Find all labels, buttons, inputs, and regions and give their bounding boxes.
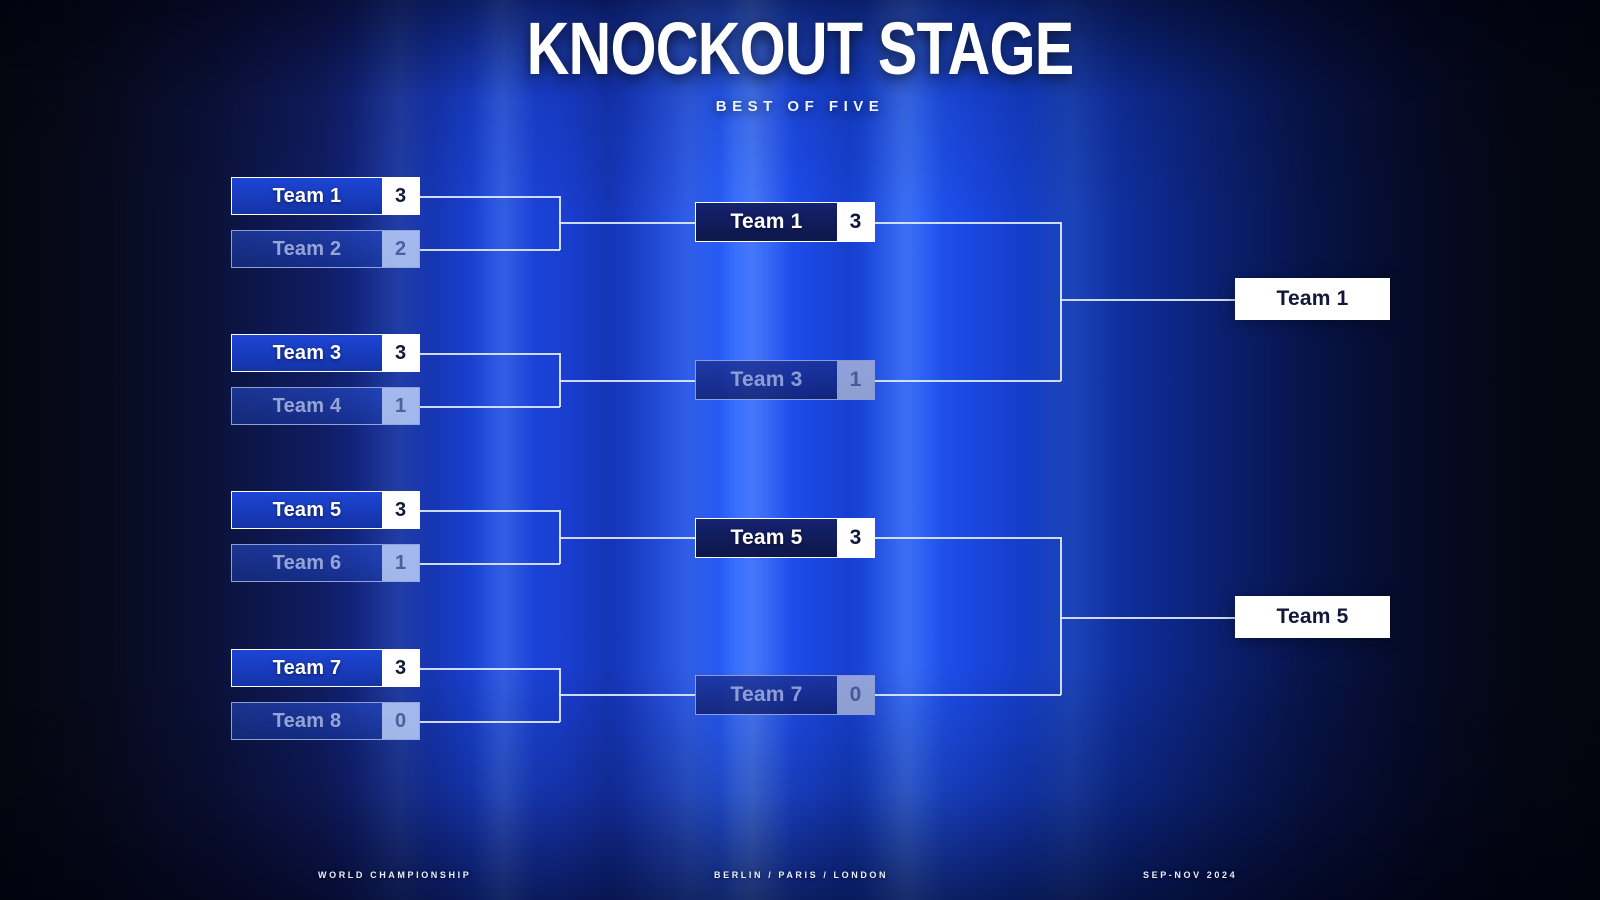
team-name: Team 7	[232, 650, 382, 686]
match-sf-2-top[interactable]: Team 5 3	[695, 518, 875, 558]
page-title: KNOCKOUT STAGE	[160, 14, 1440, 84]
bracket-row[interactable]: Team 7 3	[231, 649, 420, 687]
team-score: 3	[837, 519, 874, 557]
match-sf-2-bottom[interactable]: Team 7 0	[695, 675, 875, 715]
team-name: Team 5	[1236, 597, 1389, 637]
bracket-row[interactable]: Team 3 3	[231, 334, 420, 372]
team-name: Team 3	[232, 335, 382, 371]
team-score: 1	[382, 388, 419, 424]
connector-sf2-bottom	[875, 694, 1061, 696]
knockout-stage-bracket-screen: KNOCKOUT STAGE BEST OF FIVE	[0, 0, 1600, 900]
bracket: Team 1 3 Team 2 2 Team 3 3 Team 4 1 Team…	[0, 0, 1600, 900]
team-score: 2	[382, 231, 419, 267]
connector-sf2-join	[1060, 537, 1062, 695]
bracket-row[interactable]: Team 1 3	[231, 177, 420, 215]
match-qf-4[interactable]: Team 7 3 Team 8 0	[231, 649, 420, 740]
team-score: 1	[382, 545, 419, 581]
page-subtitle: BEST OF FIVE	[0, 98, 1600, 115]
connector-sf1-join	[1060, 222, 1062, 381]
footer-world-championship: WORLD CHAMPIONSHIP	[318, 870, 471, 880]
bracket-row[interactable]: Team 2 2	[231, 230, 420, 268]
connector-qf1-out	[559, 222, 695, 224]
header: KNOCKOUT STAGE BEST OF FIVE	[0, 0, 1600, 115]
connector-qf1-top	[420, 196, 560, 198]
team-score: 3	[382, 492, 419, 528]
connector-sf1-out	[1060, 299, 1235, 301]
connector-qf2-top	[420, 353, 560, 355]
connector-qf3-out	[559, 537, 695, 539]
team-name: Team 7	[696, 676, 837, 714]
team-name: Team 5	[232, 492, 382, 528]
team-score: 3	[382, 178, 419, 214]
connector-qf4-bottom	[420, 721, 560, 723]
bracket-row[interactable]: Team 8 0	[231, 702, 420, 740]
team-name: Team 2	[232, 231, 382, 267]
team-name: Team 3	[696, 361, 837, 399]
connector-sf1-bottom	[875, 380, 1061, 382]
bracket-row[interactable]: Team 7 0	[695, 675, 875, 715]
team-score: 1	[837, 361, 874, 399]
bracket-row[interactable]: Team 5	[1235, 596, 1390, 638]
bracket-row[interactable]: Team 1	[1235, 278, 1390, 320]
team-name: Team 1	[696, 203, 837, 241]
team-name: Team 8	[232, 703, 382, 739]
bracket-row[interactable]: Team 3 1	[695, 360, 875, 400]
connector-qf4-top	[420, 668, 560, 670]
footer-cities: BERLIN / PARIS / LONDON	[714, 870, 888, 880]
team-name: Team 4	[232, 388, 382, 424]
team-score: 3	[382, 335, 419, 371]
connector-sf2-out	[1060, 617, 1235, 619]
match-qf-3[interactable]: Team 5 3 Team 6 1	[231, 491, 420, 582]
finalist-slot-1[interactable]: Team 1	[1235, 278, 1390, 320]
bracket-row[interactable]: Team 1 3	[695, 202, 875, 242]
team-score: 0	[382, 703, 419, 739]
bracket-row[interactable]: Team 4 1	[231, 387, 420, 425]
connector-sf2-top	[875, 537, 1061, 539]
footer-dates: SEP-NOV 2024	[1143, 870, 1237, 880]
match-sf-1-top[interactable]: Team 1 3	[695, 202, 875, 242]
team-name: Team 5	[696, 519, 837, 557]
bracket-row[interactable]: Team 5 3	[695, 518, 875, 558]
team-score: 0	[837, 676, 874, 714]
team-score: 3	[382, 650, 419, 686]
connector-qf2-bottom	[420, 406, 560, 408]
connector-qf3-bottom	[420, 563, 560, 565]
connector-sf1-top	[875, 222, 1061, 224]
connector-qf2-out	[559, 380, 695, 382]
team-name: Team 1	[1236, 279, 1389, 319]
match-sf-1-bottom[interactable]: Team 3 1	[695, 360, 875, 400]
team-name: Team 1	[232, 178, 382, 214]
team-name: Team 6	[232, 545, 382, 581]
bracket-row[interactable]: Team 5 3	[231, 491, 420, 529]
finalist-slot-2[interactable]: Team 5	[1235, 596, 1390, 638]
connector-qf1-bottom	[420, 249, 560, 251]
bracket-row[interactable]: Team 6 1	[231, 544, 420, 582]
match-qf-1[interactable]: Team 1 3 Team 2 2	[231, 177, 420, 268]
match-qf-2[interactable]: Team 3 3 Team 4 1	[231, 334, 420, 425]
connector-qf3-top	[420, 510, 560, 512]
team-score: 3	[837, 203, 874, 241]
footer: WORLD CHAMPIONSHIP BERLIN / PARIS / LOND…	[0, 830, 1600, 900]
connector-qf4-out	[559, 694, 695, 696]
